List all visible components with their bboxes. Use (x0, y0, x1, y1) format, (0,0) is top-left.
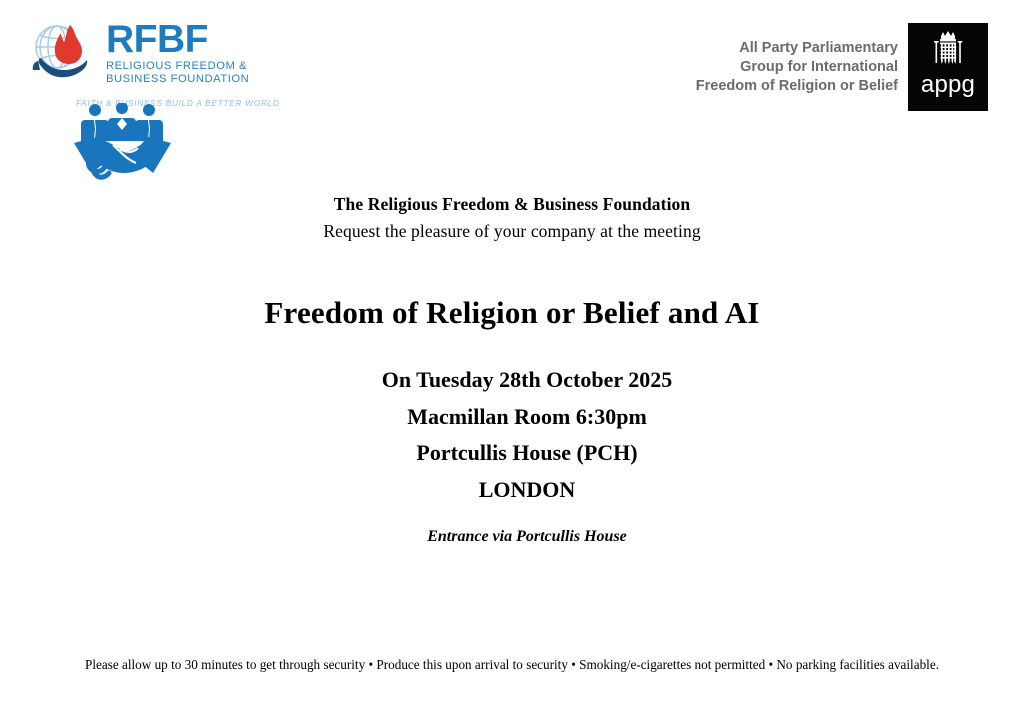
rfbf-subtitle-line-1: RELIGIOUS FREEDOM & (106, 60, 236, 73)
portcullis-icon (924, 29, 972, 77)
event-title: Freedom of Religion or Belief and AI (0, 294, 1024, 332)
header-band: RFBF RELIGIOUS FREEDOM & BUSINESS FOUNDA… (0, 0, 1024, 190)
appg-badge-word: appg (908, 73, 988, 97)
rfbf-logo-mark (30, 20, 102, 82)
invitation-intro: The Religious Freedom & Business Foundat… (0, 192, 1024, 246)
appg-badge: appg (908, 23, 988, 111)
organisation-name: The Religious Freedom & Business Foundat… (0, 192, 1024, 216)
security-notice: Please allow up to 30 minutes to get thr… (0, 656, 1024, 673)
event-detail-date: On Tuesday 28th October 2025 (30, 362, 1024, 399)
event-detail-venue: Portcullis House (PCH) (30, 435, 1024, 472)
flame-icon (55, 25, 82, 64)
appg-title-line-1: All Party Parliamentary (696, 39, 898, 58)
appg-logo-block: All Party Parliamentary Group for Intern… (696, 22, 988, 112)
appg-title-text: All Party Parliamentary Group for Intern… (696, 39, 898, 96)
request-line: Request the pleasure of your company at … (0, 216, 1024, 246)
appg-title-line-2: Group for International (696, 58, 898, 77)
event-detail-room-time: Macmillan Room 6:30pm (30, 399, 1024, 436)
event-details: On Tuesday 28th October 2025 Macmillan R… (30, 362, 1024, 508)
rfbf-initials: RFBF (106, 20, 236, 60)
handshake-with-people-icon (70, 103, 175, 181)
entrance-note: Entrance via Portcullis House (30, 528, 1024, 546)
rfbf-subtitle-line-2: BUSINESS FOUNDATION (106, 73, 236, 86)
rfbf-wordmark: RFBF RELIGIOUS FREEDOM & BUSINESS FOUNDA… (106, 20, 236, 85)
event-detail-city: LONDON (30, 472, 1024, 509)
appg-title-line-3: Freedom of Religion or Belief (696, 77, 898, 96)
rfbf-logo: RFBF RELIGIOUS FREEDOM & BUSINESS FOUNDA… (30, 20, 210, 92)
